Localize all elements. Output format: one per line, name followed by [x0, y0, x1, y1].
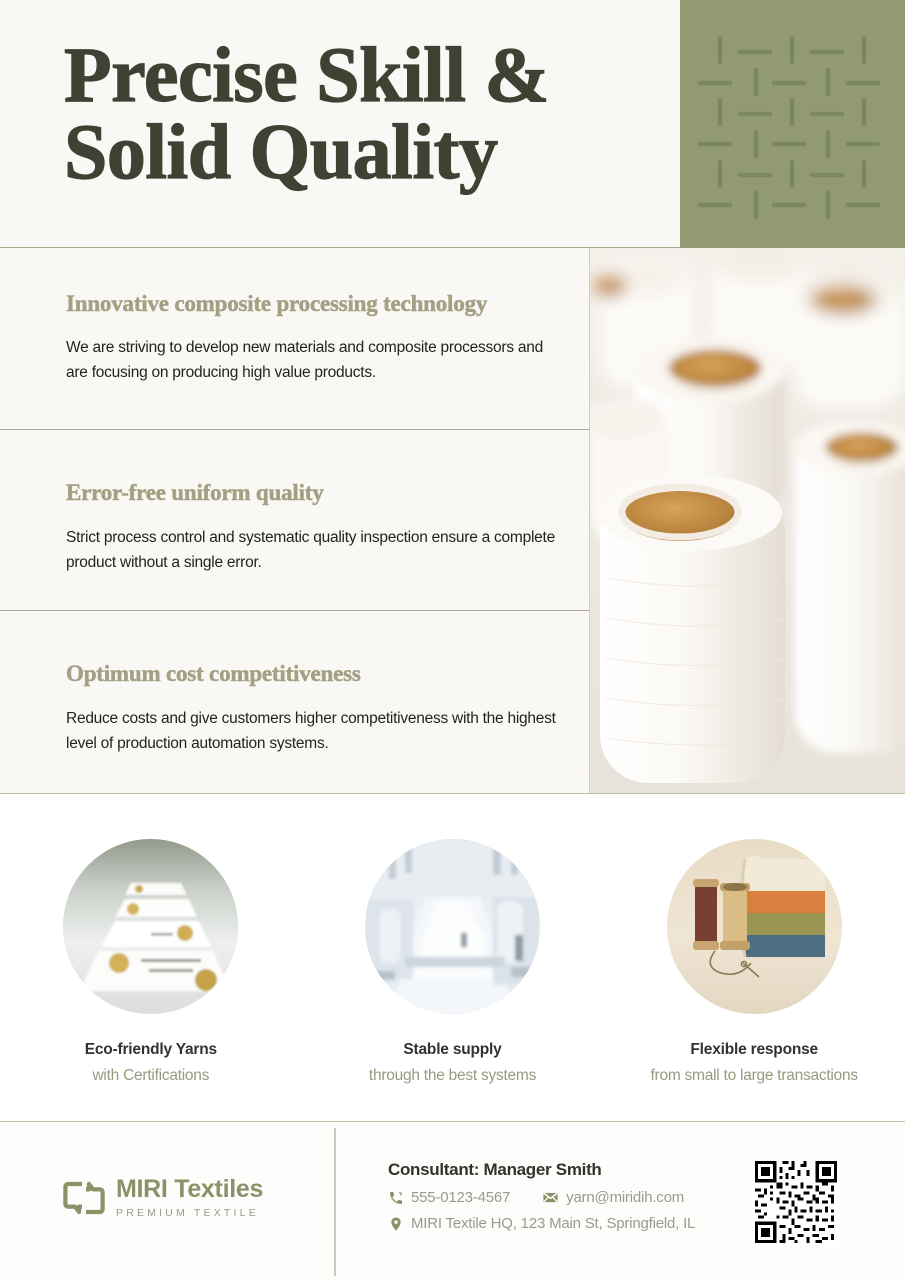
phone-number[interactable]: 555-0123-4567 — [411, 1189, 510, 1206]
contact-row-address: MIRI Textile HQ, 123 Main St, Springfiel… — [388, 1215, 768, 1232]
thread-and-fabric-photo — [667, 839, 842, 1014]
hero-section: Precise Skill & Solid Quality — [0, 0, 905, 248]
brand-logo: MIRI Textiles PREMIUM TEXTILE — [63, 1177, 263, 1219]
page-title-line-2: Solid Quality — [64, 113, 664, 190]
contact-row-phone-email: 555-0123-4567 yarn@miridih.com — [388, 1189, 768, 1206]
card-subtitle: with Certifications — [0, 1067, 302, 1085]
feature-heading: Optimum cost competitiveness — [66, 611, 565, 687]
card-title: Eco-friendly Yarns — [0, 1041, 302, 1059]
feature-heading: Error-free uniform quality — [66, 430, 565, 506]
location-pin-icon — [388, 1216, 404, 1232]
feature-body: We are striving to develop new materials… — [66, 317, 565, 385]
contact-block: Consultant: Manager Smith 555-0123-4567 … — [388, 1160, 768, 1232]
hero-decor-panel — [680, 0, 905, 248]
envelope-icon — [542, 1189, 559, 1206]
factory-line-photo — [365, 839, 540, 1014]
brand-tagline: PREMIUM TEXTILE — [116, 1207, 263, 1219]
weave-pattern-icon — [680, 0, 905, 248]
footer-divider — [334, 1128, 336, 1276]
office-address: MIRI Textile HQ, 123 Main St, Springfiel… — [411, 1215, 695, 1232]
feature-body: Reduce costs and give customers higher c… — [66, 687, 565, 756]
yarn-cones-photo — [590, 248, 905, 793]
consultant-name: Consultant: Manager Smith — [388, 1160, 768, 1180]
card-item: Eco-friendly Yarns with Certifications — [0, 794, 302, 1121]
cards-section: Eco-friendly Yarns with Certifications — [0, 793, 905, 1121]
brand-name: MIRI Textiles — [116, 1177, 263, 1202]
qr-code[interactable] — [752, 1158, 840, 1246]
card-title: Stable supply — [302, 1041, 604, 1059]
certificates-photo — [63, 839, 238, 1014]
feature-body: Strict process control and systematic qu… — [66, 506, 565, 575]
card-subtitle: through the best systems — [302, 1067, 604, 1085]
feature-block: Innovative composite processing technolo… — [0, 248, 589, 429]
feature-block: Error-free uniform quality Strict proces… — [0, 429, 589, 610]
features-section: Innovative composite processing technolo… — [0, 248, 905, 793]
card-subtitle: from small to large transactions — [603, 1067, 905, 1085]
poster-root: Precise Skill & Solid Quality — [0, 0, 905, 1280]
card-item: Flexible response from small to large tr… — [603, 794, 905, 1121]
card-item: Stable supply through the best systems — [302, 794, 604, 1121]
feature-block: Optimum cost competitiveness Reduce cost… — [0, 610, 589, 791]
email-address[interactable]: yarn@miridih.com — [566, 1189, 684, 1206]
feature-heading: Innovative composite processing technolo… — [66, 248, 565, 317]
features-text-column: Innovative composite processing technolo… — [0, 248, 590, 793]
page-title-line-1: Precise Skill & — [64, 36, 664, 113]
page-title: Precise Skill & Solid Quality — [64, 36, 664, 190]
interlocking-brackets-logo-icon — [63, 1181, 105, 1215]
phone-icon — [388, 1190, 404, 1206]
card-title: Flexible response — [603, 1041, 905, 1059]
